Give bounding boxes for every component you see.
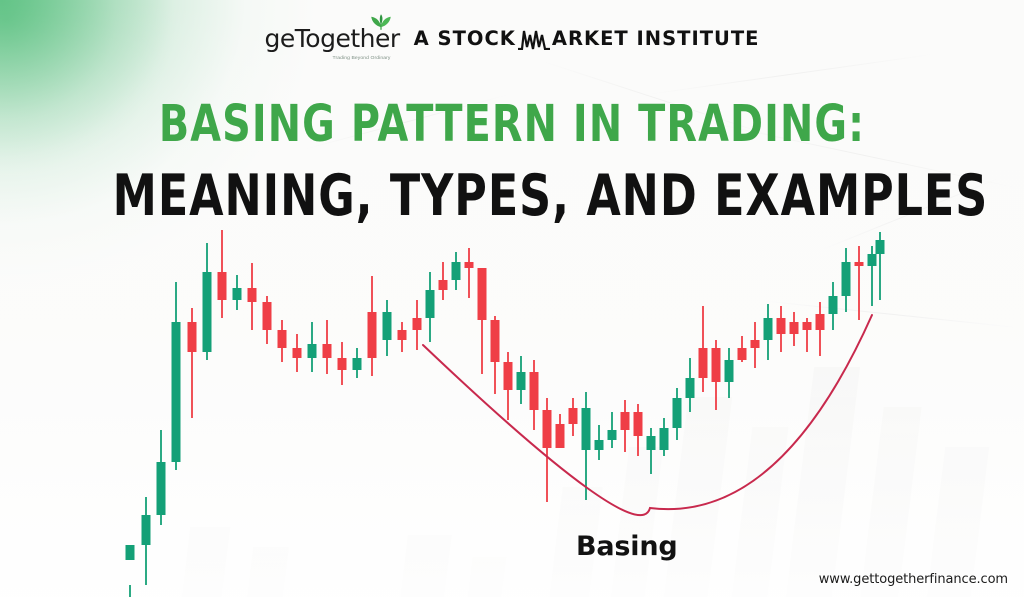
candle-body [465,262,474,268]
candle-body [855,262,864,266]
candle-body [157,462,166,515]
candle-body [543,410,552,448]
candle-body [172,322,181,462]
candle-body [829,296,838,314]
candle-body [426,290,435,318]
candle-body [634,412,643,436]
brand-logo-text: geTogether [265,26,400,51]
poster-canvas: geTogether Trading Beyond Ordinary A STO… [0,0,1024,597]
brand-logo-tagline: Trading Beyond Ordinary [333,55,391,60]
candle-body [725,360,734,382]
candle-body [647,436,656,450]
candle-series [126,230,885,597]
website-url: www.gettogetherfinance.com [819,572,1008,587]
candle-body [751,340,760,348]
candle-body [608,430,617,440]
candle-body [803,322,812,330]
candle-body [621,412,630,430]
candle-body [353,358,362,370]
candle-body [278,330,287,348]
candle-body [188,322,197,352]
candle-body [517,372,526,390]
page-title-line1: BASING PATTERN IN TRADING: [113,99,912,150]
candle-body [142,515,151,545]
candle-body [398,330,407,340]
candle-body [686,378,695,398]
candle-body [556,424,565,448]
candle-body [203,272,212,352]
brand-logo[interactable]: geTogether Trading Beyond Ordinary [265,26,400,51]
candle-body [126,545,135,560]
basing-annotation-label: Basing [576,531,677,562]
candle-body [308,344,317,358]
heartbeat-pulse-icon [517,28,551,50]
candle-body [504,362,513,390]
institute-tagline-post: ARKET INSTITUTE [552,29,760,49]
candle-body [452,262,461,280]
candle-body [233,288,242,300]
candle-body [248,288,257,302]
candle-body [218,272,227,300]
candle-body [595,440,604,450]
candle-body [383,312,392,340]
candle-body [413,318,422,330]
candle-body [323,344,332,358]
candle-body [338,358,347,370]
institute-tagline: A STOCK ARKET INSTITUTE [414,28,760,50]
candle-body [293,348,302,358]
candle-body [673,398,682,428]
candle-body [842,262,851,296]
candle-body [530,372,539,410]
candle-body [738,348,747,360]
candle-body [582,408,591,450]
candle-body [876,240,885,254]
candle-body [478,268,487,320]
candle-body [777,318,786,334]
candle-body [699,348,708,378]
page-title-line2: MEANING, TYPES, AND EXAMPLES [113,168,912,225]
basing-curve [423,315,872,515]
candle-body [790,322,799,334]
candle-body [816,314,825,330]
candle-body [491,320,500,362]
brand-logo-wordmark: geTogether [265,24,400,53]
candle-body [764,318,773,340]
candle-body [263,302,272,330]
candlestick-chart [0,0,1024,597]
candle-body [439,280,448,290]
candle-body [660,428,669,450]
brand-header: geTogether Trading Beyond Ordinary A STO… [0,26,1024,51]
candle-body [712,348,721,382]
candle-body [569,408,578,424]
candle-body [868,254,877,266]
institute-tagline-pre: A STOCK [414,29,516,49]
candle-body [368,312,377,358]
